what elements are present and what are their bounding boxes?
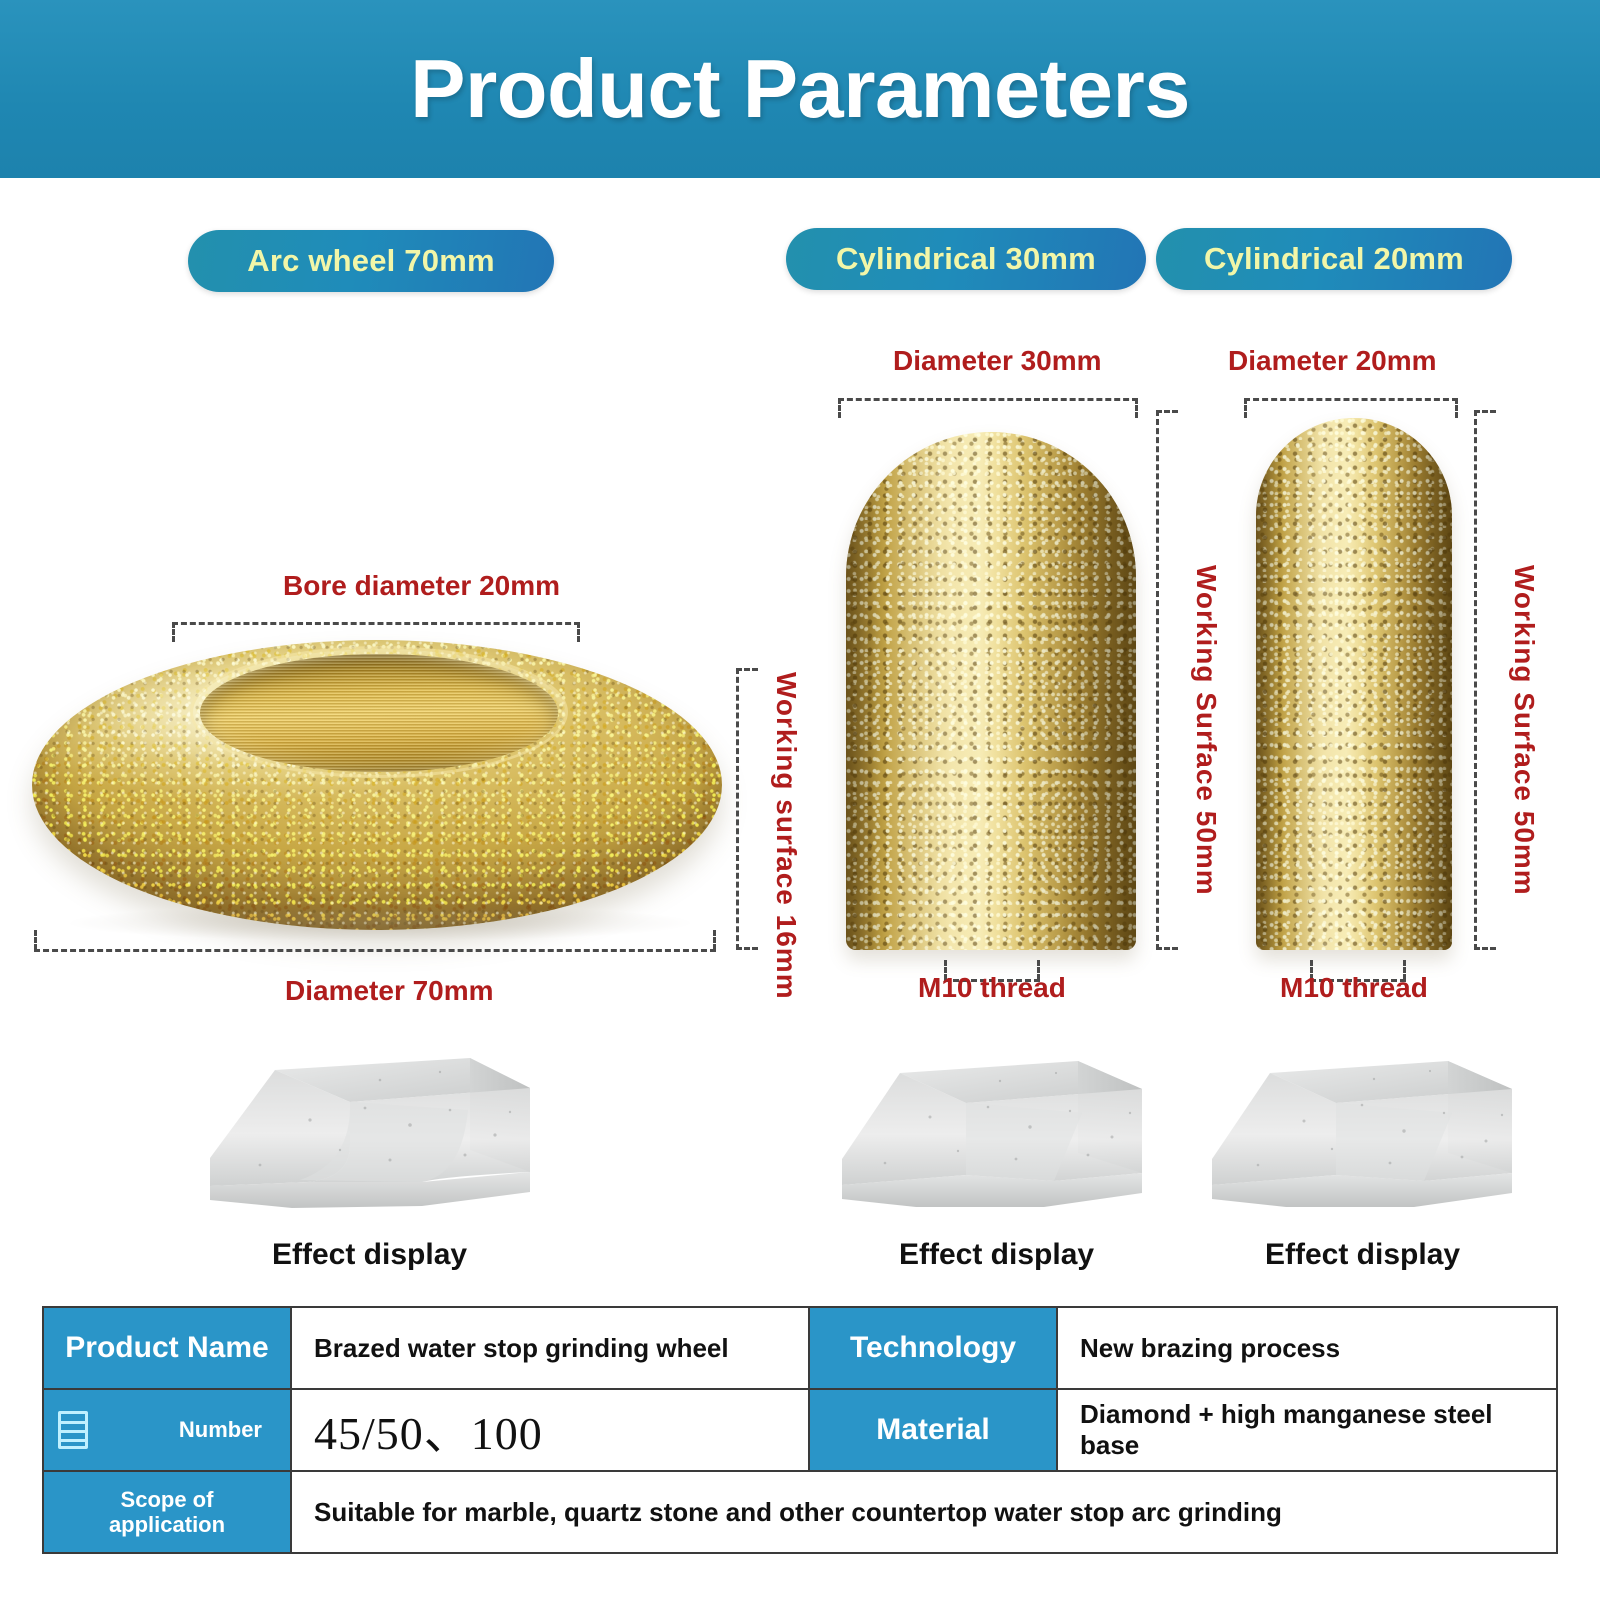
product-image-arc-wheel bbox=[32, 640, 722, 930]
dim-label-diameter-20mm: Diameter 20mm bbox=[1228, 345, 1437, 377]
scope-label-line1: Scope of bbox=[52, 1487, 282, 1512]
tab-cylindrical-20mm[interactable]: Cylindrical 20mm bbox=[1156, 228, 1512, 290]
dim-bracket-diameter-30 bbox=[838, 398, 1138, 420]
spec-value-material: Diamond + high manganese steel base bbox=[1057, 1389, 1557, 1471]
tab-arc-wheel-70mm[interactable]: Arc wheel 70mm bbox=[188, 230, 554, 292]
effect-block-square-profile-1 bbox=[830, 1055, 1150, 1230]
page-header: Product Parameters bbox=[0, 0, 1600, 178]
product-image-cylindrical-20mm bbox=[1256, 418, 1452, 950]
table-row: Product Name Brazed water stop grinding … bbox=[43, 1307, 1557, 1389]
spec-label-scope-of-application: Scope of application bbox=[43, 1471, 291, 1553]
effect-block-cove-profile bbox=[200, 1050, 540, 1230]
effect-block-square-profile-2 bbox=[1200, 1055, 1520, 1230]
tab-cylindrical-30mm[interactable]: Cylindrical 30mm bbox=[786, 228, 1146, 290]
spec-label-technology: Technology bbox=[809, 1307, 1057, 1389]
list-ladder-icon bbox=[58, 1411, 88, 1449]
dim-bracket-diameter-70 bbox=[34, 930, 716, 952]
dim-bracket-diameter-20 bbox=[1244, 398, 1458, 420]
spec-table: Product Name Brazed water stop grinding … bbox=[42, 1306, 1558, 1554]
dim-label-working-surface-16mm: Working surface 16mm bbox=[770, 672, 802, 1000]
spec-value-number: 45/50、100 bbox=[291, 1389, 809, 1471]
dim-bracket-working-surface-50-b bbox=[1474, 410, 1498, 950]
spec-value-technology: New brazing process bbox=[1057, 1307, 1557, 1389]
scope-label-line2: application bbox=[52, 1512, 282, 1537]
dim-bracket-working-surface-50-a bbox=[1156, 410, 1180, 950]
dim-label-working-surface-50mm-b: Working Surface 50mm bbox=[1508, 565, 1540, 896]
dim-label-m10-thread-a: M10 thread bbox=[918, 972, 1066, 1004]
dim-label-bore-diameter: Bore diameter 20mm bbox=[283, 570, 560, 602]
dim-label-diameter-30mm: Diameter 30mm bbox=[893, 345, 1102, 377]
page-title: Product Parameters bbox=[410, 41, 1190, 137]
spec-label-material: Material bbox=[809, 1389, 1057, 1471]
spec-label-number-text: Number bbox=[179, 1417, 262, 1442]
spec-value-product-name: Brazed water stop grinding wheel bbox=[291, 1307, 809, 1389]
spec-value-scope-of-application: Suitable for marble, quartz stone and ot… bbox=[291, 1471, 1557, 1553]
effect-display-label-2: Effect display bbox=[899, 1238, 1094, 1272]
table-row: Number 45/50、100 Material Diamond + high… bbox=[43, 1389, 1557, 1471]
dim-label-working-surface-50mm-a: Working Surface 50mm bbox=[1190, 565, 1222, 896]
effect-display-label-1: Effect display bbox=[272, 1238, 467, 1272]
effect-display-label-3: Effect display bbox=[1265, 1238, 1460, 1272]
dim-label-diameter-70mm: Diameter 70mm bbox=[285, 975, 494, 1007]
dim-label-m10-thread-b: M10 thread bbox=[1280, 972, 1428, 1004]
spec-label-number: Number bbox=[43, 1389, 291, 1471]
dim-bracket-working-surface-16 bbox=[736, 668, 760, 950]
product-image-cylindrical-30mm bbox=[846, 432, 1136, 950]
table-row: Scope of application Suitable for marble… bbox=[43, 1471, 1557, 1553]
spec-label-product-name: Product Name bbox=[43, 1307, 291, 1389]
